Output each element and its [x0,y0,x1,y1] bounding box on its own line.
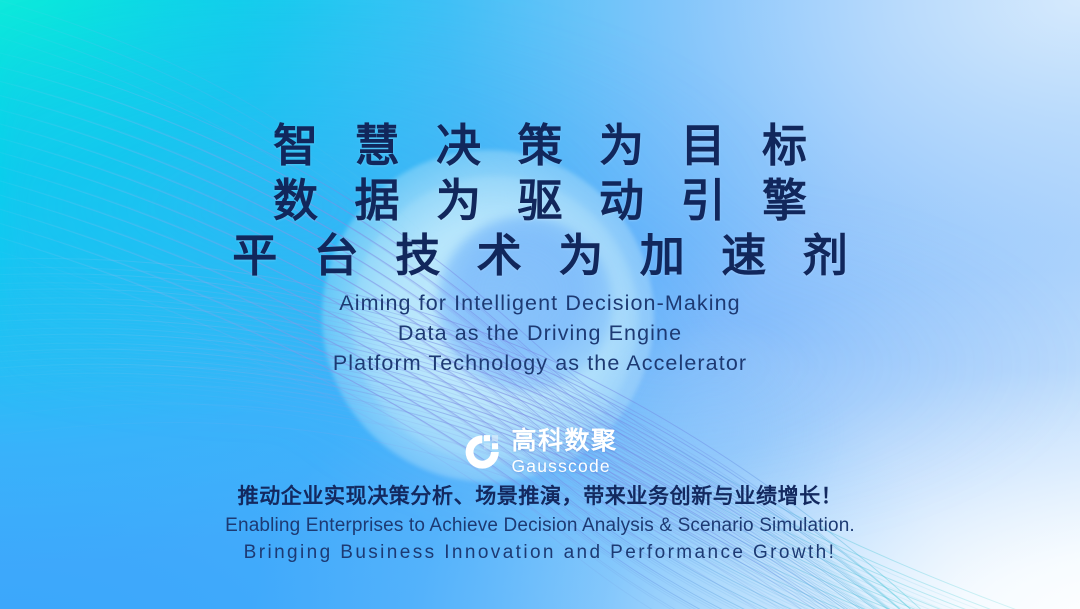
footer-tagline-en-2: Bringing Business Innovation and Perform… [0,539,1080,566]
logo-name-en: Gausscode [511,456,617,476]
footer-tagline-en-1: Enabling Enterprises to Achieve Decision… [0,512,1080,539]
headline-line-2: 数 据 为 驱 动 引 擎 [0,173,1080,228]
headline-block: 智 慧 决 策 为 目 标 数 据 为 驱 动 引 擎 平 台 技 术 为 加 … [0,118,1080,283]
headline-line-3: 平 台 技 术 为 加 速 剂 [0,228,1080,283]
poster-canvas: 智 慧 决 策 为 目 标 数 据 为 驱 动 引 擎 平 台 技 术 为 加 … [0,0,1080,609]
gausscode-g-logo-icon [462,432,502,472]
brand-logo: 高科数聚 Gausscode [0,428,1080,476]
logo-name-cn: 高科数聚 [511,428,617,455]
subheadline-line-1: Aiming for Intelligent Decision-Making [0,288,1080,318]
footer-block: 推动企业实现决策分析、场景推演，带来业务创新与业绩增长！ Enabling En… [0,482,1080,566]
subheadline-line-3: Platform Technology as the Accelerator [0,348,1080,378]
headline-line-1: 智 慧 决 策 为 目 标 [0,118,1080,173]
subheadline-line-2: Data as the Driving Engine [0,318,1080,348]
subheadline-block: Aiming for Intelligent Decision-Making D… [0,288,1080,378]
footer-tagline-cn: 推动企业实现决策分析、场景推演，带来业务创新与业绩增长！ [0,482,1080,512]
